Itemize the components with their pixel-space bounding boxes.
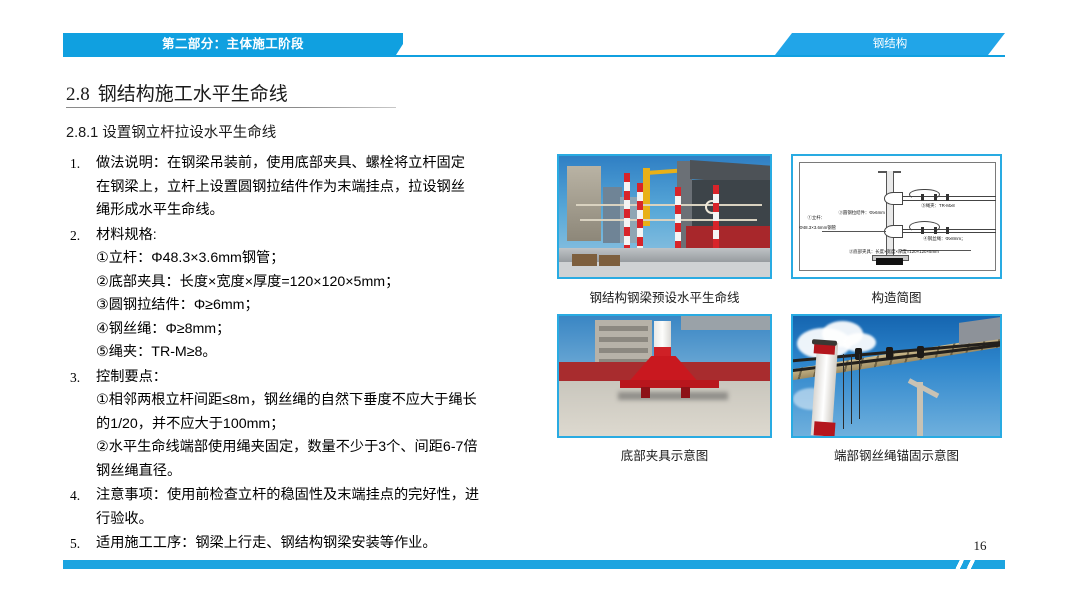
list-item-line: ⑤绳夹：TR-M≥8。: [96, 341, 544, 365]
diagram-label-clip: ⑤绳夹：TR-M≥8: [921, 203, 954, 209]
list-item-body: 注意事项：使用前检查立杆的稳固性及末端挂点的完好性，进行验收。: [96, 484, 544, 531]
figure-base-clamp: [557, 314, 772, 438]
list-item-body: 适用施工工序：钢梁上行走、钢结构钢梁安装等作业。: [96, 532, 544, 556]
figure-construction-diagram: ①立杆： Φ48.3×3.6mm钢管 ③圆钢拉结件：Φ≥6mm ⑤绳夹：TR-M…: [791, 154, 1002, 279]
footer-bar: [63, 560, 953, 569]
figure-site-beam: [557, 154, 772, 279]
figure-3-artwork: [559, 316, 770, 436]
figure-2-caption: 构造简图: [791, 287, 1002, 306]
figure-1-artwork: [559, 156, 770, 277]
list-item-body: 材料规格:①立杆：Φ48.3×3.6mm钢管；②底部夹具：长度×宽度×厚度=12…: [96, 224, 544, 365]
list-item-line: 的1/20，并不应大于100mm；: [96, 413, 544, 437]
list-item-marker: 5.: [62, 532, 96, 556]
list-item-line: 适用施工工序：钢梁上行走、钢结构钢梁安装等作业。: [96, 532, 544, 556]
list-item-line: ③圆钢拉结件：Φ≥6mm；: [96, 294, 544, 318]
diagram-label-tie: ③圆钢拉结件：Φ≥6mm: [839, 210, 885, 216]
diagram-label-post: ①立杆：: [807, 215, 825, 221]
list-item-line: 行验收。: [96, 508, 544, 532]
diagram-label-rope: ④钢丝绳：Φ≥8mm；: [923, 236, 965, 242]
list-item-line: 钢丝绳直径。: [96, 460, 544, 484]
list-item-line: ②水平生命线端部使用绳夹固定，数量不少于3个、间距6-7倍: [96, 436, 544, 460]
list-item-marker: 4.: [62, 484, 96, 508]
page-title-text: 钢结构施工水平生命线: [98, 84, 288, 105]
list-item-line: 绳形成水平生命线。: [96, 199, 544, 223]
list-item-line: 在钢梁上，立杆上设置圆钢拉结件作为末端挂点，拉设钢丝: [96, 176, 544, 200]
header-underline: [63, 55, 1005, 57]
list-item-line: ①相邻两根立杆间距≤8m，钢丝绳的自然下垂度不应大于绳长: [96, 389, 544, 413]
header-section-label: 第二部分：主体施工阶段: [63, 33, 403, 55]
list-item-line: ②底部夹具：长度×宽度×厚度=120×120×5mm；: [96, 271, 544, 295]
list-item-line: 材料规格:: [96, 224, 544, 248]
list-item: 5.适用施工工序：钢梁上行走、钢结构钢梁安装等作业。: [62, 532, 544, 556]
content-list: 1.做法说明：在钢梁吊装前，使用底部夹具、螺栓将立杆固定在钢梁上，立杆上设置圆钢…: [62, 152, 544, 557]
slide-header: 第二部分：主体施工阶段 钢结构: [0, 0, 1066, 62]
list-item: 2.材料规格:①立杆：Φ48.3×3.6mm钢管；②底部夹具：长度×宽度×厚度=…: [62, 224, 544, 365]
section-subtitle: 2.8.1 设置钢立杆拉设水平生命线: [66, 121, 276, 142]
figure-4-caption: 端部钢丝绳锚固示意图: [791, 445, 1002, 464]
list-item-line: 控制要点：: [96, 366, 544, 390]
figure-2-artwork: ①立杆： Φ48.3×3.6mm钢管 ③圆钢拉结件：Φ≥6mm ⑤绳夹：TR-M…: [793, 156, 1000, 277]
header-topic-label: 钢结构: [775, 33, 1005, 55]
page-title: 2.8钢结构施工水平生命线: [66, 79, 288, 106]
diagram-label-clamp: ②底部夹具：长度×宽度×厚度=120×120×5mm: [849, 249, 939, 255]
page-title-number: 2.8: [66, 84, 90, 105]
list-item-line: ④钢丝绳：Φ≥8mm；: [96, 318, 544, 342]
figure-4-artwork: [793, 316, 1000, 436]
list-item: 1.做法说明：在钢梁吊装前，使用底部夹具、螺栓将立杆固定在钢梁上，立杆上设置圆钢…: [62, 152, 544, 223]
list-item-marker: 1.: [62, 152, 96, 176]
list-item: 4.注意事项：使用前检查立杆的稳固性及末端挂点的完好性，进行验收。: [62, 484, 544, 531]
list-item-body: 控制要点：①相邻两根立杆间距≤8m，钢丝绳的自然下垂度不应大于绳长的1/20，并…: [96, 366, 544, 484]
diagram-label-post-spec: Φ48.3×3.6mm钢管: [799, 225, 836, 231]
figure-rope-anchor: [791, 314, 1002, 438]
list-item-line: ①立杆：Φ48.3×3.6mm钢管；: [96, 247, 544, 271]
list-item-body: 做法说明：在钢梁吊装前，使用底部夹具、螺栓将立杆固定在钢梁上，立杆上设置圆钢拉结…: [96, 152, 544, 223]
list-item-line: 做法说明：在钢梁吊装前，使用底部夹具、螺栓将立杆固定: [96, 152, 544, 176]
title-divider: [66, 107, 396, 108]
figure-1-caption: 钢结构钢梁预设水平生命线: [557, 287, 772, 306]
list-item: 3.控制要点：①相邻两根立杆间距≤8m，钢丝绳的自然下垂度不应大于绳长的1/20…: [62, 366, 544, 484]
page-number: 16: [960, 538, 1000, 554]
footer-bar-tail: [975, 560, 1005, 569]
list-item-marker: 2.: [62, 224, 96, 248]
list-item-line: 注意事项：使用前检查立杆的稳固性及末端挂点的完好性，进: [96, 484, 544, 508]
list-item-marker: 3.: [62, 366, 96, 390]
figure-3-caption: 底部夹具示意图: [557, 445, 772, 464]
